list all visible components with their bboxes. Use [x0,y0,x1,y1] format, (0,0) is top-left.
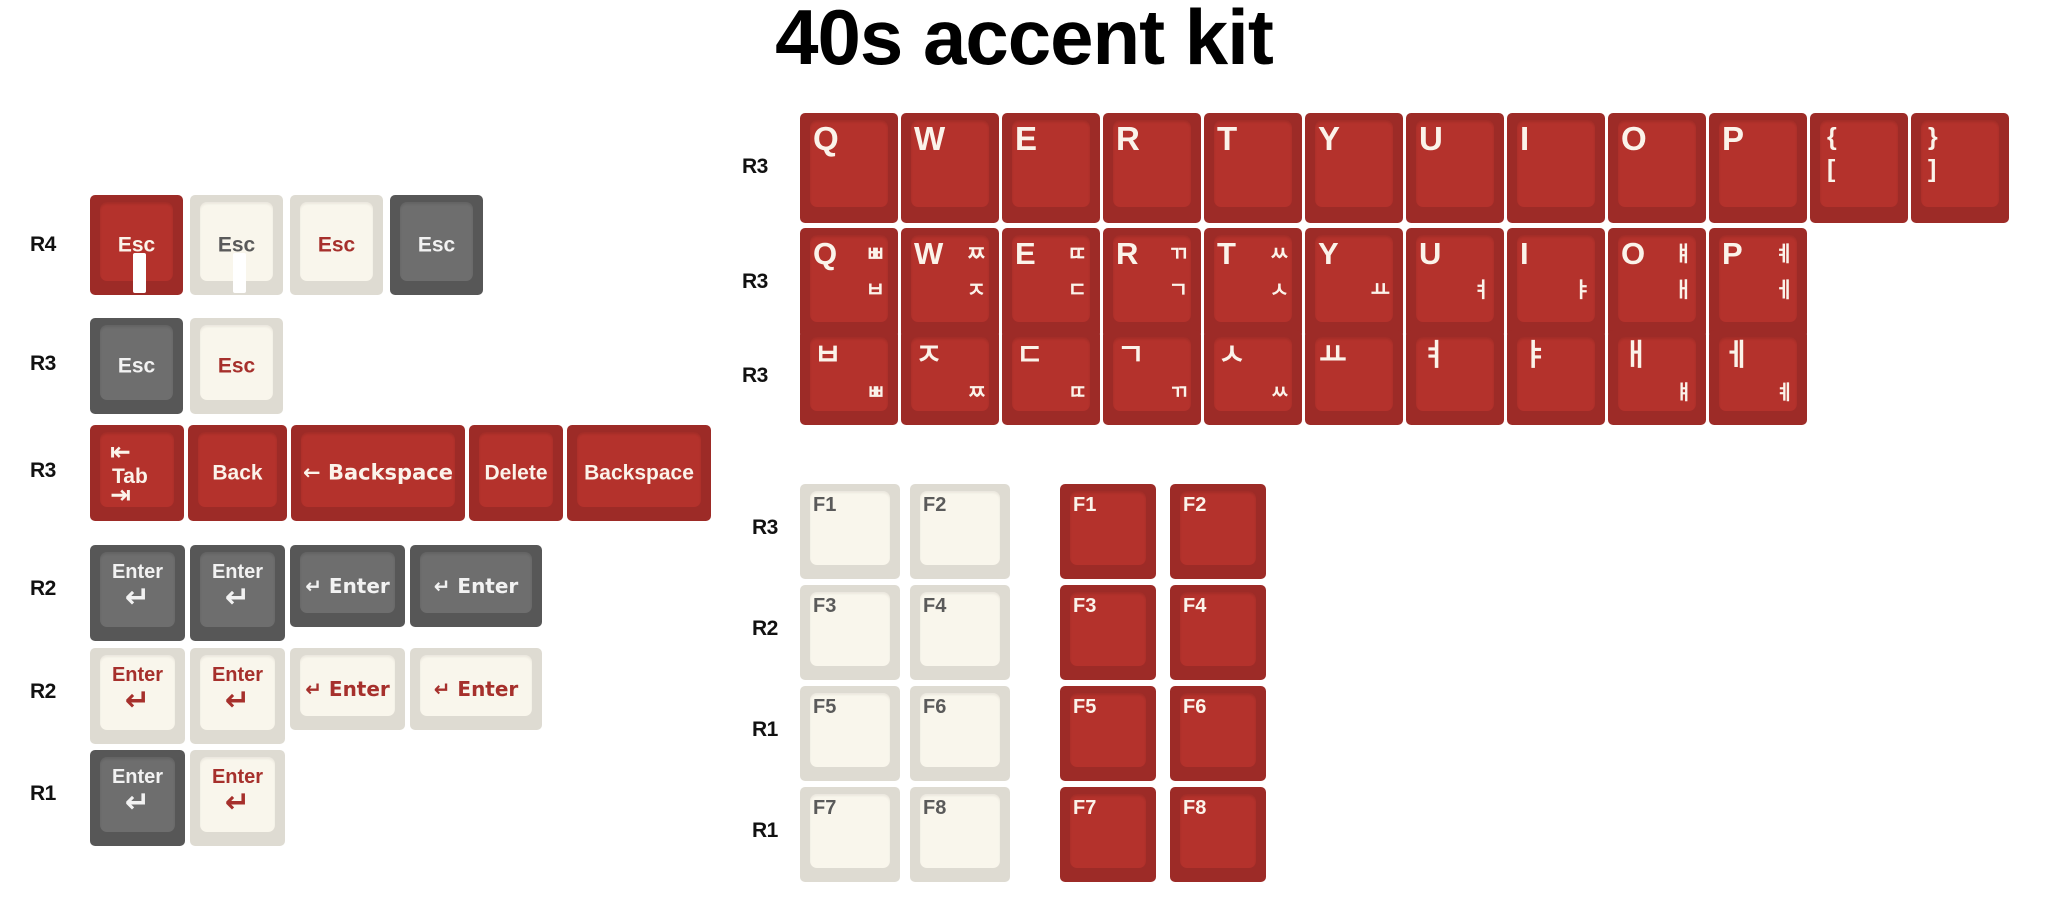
esc-beige-gray[interactable]: Esc [190,195,283,295]
latin-legend: T [1217,122,1237,155]
hangul-base-legend: ㅂ [866,280,885,301]
hangul-base-legend: ㅐ [1622,341,1650,371]
row-label-r3-tab: R3 [30,459,56,483]
esc-label: Esc [90,356,183,377]
fkey-label: F1 [813,495,836,515]
hangul-base-legend: ㅅ [1270,280,1289,301]
latin-legend: T [1217,238,1236,269]
fkey-beige-f6[interactable]: F6 [910,686,1010,781]
enter-label: ↵ Enter [410,576,542,596]
row-label-fkey-0: R3 [752,516,778,540]
fkey-label: F7 [1073,798,1096,818]
enter-arrow-icon: ↵ [190,583,285,613]
enter-beige-w1[interactable]: ↵ Enter [290,648,405,730]
fkey-label: F4 [1183,596,1206,616]
fkey-beige-f3[interactable]: F3 [800,585,900,680]
hangul-base-legend: ㅛ [1371,280,1390,301]
hangul-shifted-legend: ㅒ [1675,383,1693,403]
backspace-label: Backspace [567,463,711,484]
keycap-legend-layer: ㅈㅉ [901,330,999,425]
keycap-legend-layer: F1 [1060,484,1156,579]
keycap-legend-layer: {[ [1810,113,1908,223]
key-hangul-yo[interactable]: ㅛ [1305,330,1403,425]
keycap-legend-layer: O [1608,113,1706,223]
key-hangul-ae[interactable]: ㅐㅒ [1608,330,1706,425]
fkey-beige-f4[interactable]: F4 [910,585,1010,680]
hangul-base-legend: ㅑ [1521,341,1549,371]
keycap-legend-layer: F3 [1060,585,1156,680]
keycap-legend-layer: ㄷㄸ [1002,330,1100,425]
tab[interactable]: ⇤Tab⇥ [90,425,184,521]
keycap-legend-layer: F5 [800,686,900,781]
hangul-base-legend: ㅈ [967,280,986,301]
latin-legend: I [1520,238,1529,269]
enter-arrow-icon: ↵ [90,583,185,613]
key-q[interactable]: Q [800,113,898,223]
row-label-fkey-3: R1 [752,819,778,843]
keycap-legend-layer: ← Backspace [291,425,465,521]
keycap-legend-layer: Esc [190,318,283,414]
esc-label: Esc [390,235,483,256]
fkey-label: F3 [813,596,836,616]
keycap-legend-layer: Enter↵ [190,648,285,744]
keycap-legend-layer: Yㅛ [1305,228,1403,338]
backspace[interactable]: ← Backspace [291,425,465,521]
latin-legend: E [1015,238,1036,269]
keycap-legend-layer: ㅕ [1406,330,1504,425]
latin-legend: R [1116,238,1138,269]
fkey-label: F1 [1073,495,1096,515]
hangul-shifted-legend: ㅃ [867,383,885,403]
keycap-legend-layer: ↵ Enter [290,648,405,730]
fkey-beige-f1[interactable]: F1 [800,484,900,579]
keycap-legend-layer: U [1406,113,1504,223]
keycap-legend-layer: W [901,113,999,223]
fkey-label: F4 [923,596,946,616]
hangul-shifted-legend: ㅖ [1775,244,1794,265]
keycap-legend-layer: Wㅉㅈ [901,228,999,338]
key-hangul-digeut[interactable]: ㄷㄸ [1002,330,1100,425]
keycap-legend-layer: ↵ Enter [290,545,405,627]
key-hangul-jieut[interactable]: ㅈㅉ [901,330,999,425]
key-w[interactable]: W [901,113,999,223]
hangul-shifted-legend: ㅆ [1270,244,1289,265]
key-bracket-left[interactable]: {[ [1810,113,1908,223]
enter-label: ↵ Enter [290,679,405,699]
enter-gray-1[interactable]: Enter↵ [90,545,185,641]
key-o-hangul[interactable]: Oㅒㅐ [1608,228,1706,338]
esc-red[interactable]: Esc [90,195,183,295]
enter-label: Enter [190,665,285,685]
row-label-r3-esc: R3 [30,352,56,376]
keycap-legend-layer: F8 [1170,787,1266,882]
latin-legend: E [1015,122,1037,155]
keycap-legend-layer: F2 [910,484,1010,579]
keycap-legend-layer: Esc [390,195,483,295]
hangul-shifted-legend: ㅉ [967,244,986,265]
hangul-base-legend: ㅔ [1775,280,1794,301]
enter-gray-2[interactable]: Enter↵ [190,545,285,641]
delete-label: Delete [469,463,563,484]
homing-indicator-bar [233,253,246,293]
hangul-shifted-legend: ㄸ [1069,383,1087,403]
enter-label: Enter [90,562,185,582]
keycap-legend-layer: F7 [1060,787,1156,882]
keycap-legend-layer: F1 [800,484,900,579]
key-u-hangul[interactable]: Uㅕ [1406,228,1504,338]
keycap-legend-layer: I [1507,113,1605,223]
key-o[interactable]: O [1608,113,1706,223]
key-e-hangul[interactable]: Eㄸㄷ [1002,228,1100,338]
hangul-base-legend: ㅐ [1674,280,1693,301]
keycap-legend-layer: F3 [800,585,900,680]
latin-legend: O [1621,122,1647,155]
keycap-legend-layer: Oㅒㅐ [1608,228,1706,338]
keycap-legend-layer: Enter↵ [190,750,285,846]
homing-indicator-bar [133,253,146,293]
hangul-base-legend: ㅕ [1472,280,1491,301]
enter-arrow-icon: ↵ [190,788,285,818]
keycap-legend-layer: F8 [910,787,1010,882]
row-label-r2-enter-4: R2 [30,680,56,704]
tab-right-arrow-icon: ⇥ [110,482,131,507]
keycap-legend-layer: ㅅㅆ [1204,330,1302,425]
fkey-label: F2 [1183,495,1206,515]
esc-label: Esc [290,235,383,256]
tab-left-arrow-icon: ⇤ [110,439,131,464]
enter-beige-1[interactable]: Enter↵ [90,648,185,744]
backspace-2u[interactable]: Backspace [567,425,711,521]
keycap-legend-layer: Enter↵ [90,545,185,641]
keycap-legend-layer: Uㅕ [1406,228,1504,338]
key-r-hangul[interactable]: Rㄲㄱ [1103,228,1201,338]
backspace-label: ← Backspace [291,463,465,484]
hangul-base-legend: ㄱ [1117,341,1145,371]
shifted-symbol-legend: { [1827,125,1837,150]
keycap-legend-layer: F4 [1170,585,1266,680]
enter-label: Enter [90,767,185,787]
keycap-legend-layer: Tㅆㅅ [1204,228,1302,338]
key-bracket-right[interactable]: }] [1911,113,2009,223]
esc-gray-r3[interactable]: Esc [90,318,183,414]
hangul-shifted-legend: ㅆ [1271,383,1289,403]
hangul-base-legend: ㅂ [814,341,842,371]
shifted-symbol-legend: } [1928,125,1938,150]
latin-legend: Q [813,122,839,155]
enter-beige-w2[interactable]: ↵ Enter [410,648,542,730]
key-hangul-e[interactable]: ㅔㅖ [1709,330,1807,425]
fkey-label: F6 [1183,697,1206,717]
key-e[interactable]: E [1002,113,1100,223]
key-t-hangul[interactable]: Tㅆㅅ [1204,228,1302,338]
keycap-legend-layer: T [1204,113,1302,223]
keycap-legend-layer: F7 [800,787,900,882]
latin-legend: R [1116,122,1140,155]
enter-arrow-icon: ↵ [90,686,185,716]
keycap-legend-layer: ㅐㅒ [1608,330,1706,425]
latin-legend: O [1621,238,1645,269]
key-y[interactable]: Y [1305,113,1403,223]
fkey-red-f6[interactable]: F6 [1170,686,1266,781]
fkey-beige-f5[interactable]: F5 [800,686,900,781]
esc-beige-red-r3[interactable]: Esc [190,318,283,414]
fkey-red-f3[interactable]: F3 [1060,585,1156,680]
keycap-legend-layer: ↵ Enter [410,648,542,730]
fkey-beige-f8[interactable]: F8 [910,787,1010,882]
hangul-base-legend: ㅅ [1218,341,1246,371]
hangul-base-legend: ㅕ [1420,341,1448,371]
keycap-legend-layer: Enter↵ [190,545,285,641]
hangul-base-legend: ㅔ [1723,341,1751,371]
key-w-hangul[interactable]: Wㅉㅈ [901,228,999,338]
key-hangul-ya[interactable]: ㅑ [1507,330,1605,425]
keycap-legend-layer: F4 [910,585,1010,680]
page-title: 40s accent kit [0,0,2048,83]
enter-label: ↵ Enter [290,576,405,596]
latin-legend: U [1419,122,1443,155]
enter-label: Enter [90,665,185,685]
keycap-legend-layer: F6 [1170,686,1266,781]
keycap-legend-layer: }] [1911,113,2009,223]
fkey-label: F8 [1183,798,1206,818]
hangul-base-legend: ㅈ [915,341,943,371]
enter-arrow-icon: ↵ [90,788,185,818]
enter-gray-w2[interactable]: ↵ Enter [410,545,542,627]
row-label-r1-enter: R1 [30,782,56,806]
hangul-base-legend: ㅛ [1319,341,1347,371]
key-t[interactable]: T [1204,113,1302,223]
fkey-red-f5[interactable]: F5 [1060,686,1156,781]
enter-label: ↵ Enter [410,679,542,699]
row-label-fkey-1: R2 [752,617,778,641]
hangul-base-legend: ㅑ [1573,280,1592,301]
keycap-legend-layer: R [1103,113,1201,223]
latin-legend: U [1419,238,1441,269]
key-p-hangul[interactable]: Pㅖㅔ [1709,228,1807,338]
keycap-kit-page: 40s accent kit EscEscEscEscR4EscEscR3⇤Ta… [0,0,2048,916]
row-label-fkey-2: R1 [752,718,778,742]
enter-arrow-icon: ↵ [190,686,285,716]
back-label: Back [188,463,287,484]
fkey-label: F7 [813,798,836,818]
fkey-label: F8 [923,798,946,818]
fkey-label: F3 [1073,596,1096,616]
esc-beige-red[interactable]: Esc [290,195,383,295]
fkey-label: F6 [923,697,946,717]
key-p[interactable]: P [1709,113,1807,223]
keycap-legend-layer: Rㄲㄱ [1103,228,1201,338]
keycap-legend-layer: ㅛ [1305,330,1403,425]
hangul-shifted-legend: ㄲ [1170,383,1188,403]
keycap-legend-layer: ⇤Tab⇥ [90,425,184,521]
hangul-base-legend: ㄷ [1068,280,1087,301]
fkey-red-f1[interactable]: F1 [1060,484,1156,579]
hangul-shifted-legend: ㅖ [1776,383,1794,403]
row-label-hangul-r3-b: R3 [742,270,768,294]
key-hangul-yeo[interactable]: ㅕ [1406,330,1504,425]
hangul-shifted-legend: ㄲ [1169,244,1188,265]
fkey-label: F2 [923,495,946,515]
keycap-legend-layer: Y [1305,113,1403,223]
keycap-legend-layer: F5 [1060,686,1156,781]
esc-gray[interactable]: Esc [390,195,483,295]
keycap-legend-layer: Enter↵ [90,648,185,744]
enter-gray-w1[interactable]: ↵ Enter [290,545,405,627]
latin-legend: W [914,122,945,155]
hangul-shifted-legend: ㅒ [1674,244,1693,265]
hangul-shifted-legend: ㄸ [1068,244,1087,265]
back[interactable]: Back [188,425,287,521]
fkey-red-f7[interactable]: F7 [1060,787,1156,882]
key-hangul-bieup[interactable]: ㅂㅃ [800,330,898,425]
key-u[interactable]: U [1406,113,1504,223]
keycap-legend-layer: Esc [290,195,383,295]
fkey-red-f2[interactable]: F2 [1170,484,1266,579]
keycap-legend-layer: F6 [910,686,1010,781]
fkey-beige-f7[interactable]: F7 [800,787,900,882]
key-i[interactable]: I [1507,113,1605,223]
enter-beige-r1[interactable]: Enter↵ [190,750,285,846]
fkey-beige-f2[interactable]: F2 [910,484,1010,579]
keycap-legend-layer: E [1002,113,1100,223]
keycap-legend-layer: Pㅖㅔ [1709,228,1807,338]
delete[interactable]: Delete [469,425,563,521]
keycap-legend-layer: Backspace [567,425,711,521]
keycap-legend-layer: Iㅑ [1507,228,1605,338]
latin-legend: Y [1318,238,1339,269]
enter-label: Enter [190,767,285,787]
keycap-legend-layer: Back [188,425,287,521]
row-label-hangul-r3-c: R3 [742,364,768,388]
hangul-base-legend: ㄷ [1016,341,1044,371]
row-label-r2-enter-3: R2 [30,577,56,601]
keycap-legend-layer: Eㄸㄷ [1002,228,1100,338]
key-hangul-siot[interactable]: ㅅㅆ [1204,330,1302,425]
keycap-legend-layer: ㅂㅃ [800,330,898,425]
row-label-r4: R4 [30,233,56,257]
base-symbol-legend: [ [1827,157,1835,182]
latin-legend: P [1722,122,1744,155]
row-label-hangul-r3-a: R3 [742,155,768,179]
key-i-hangul[interactable]: Iㅑ [1507,228,1605,338]
keycap-legend-layer: ㅔㅖ [1709,330,1807,425]
keycap-legend-layer: ㅑ [1507,330,1605,425]
keycap-legend-layer: Esc [90,318,183,414]
base-symbol-legend: ] [1928,157,1936,182]
keycap-legend-layer: Qㅃㅂ [800,228,898,338]
fkey-red-f8[interactable]: F8 [1170,787,1266,882]
keycap-legend-layer: Delete [469,425,563,521]
latin-legend: W [914,238,943,269]
hangul-shifted-legend: ㅉ [968,383,986,403]
latin-legend: Y [1318,122,1340,155]
enter-gray-r1[interactable]: Enter↵ [90,750,185,846]
keycap-legend-layer: Q [800,113,898,223]
latin-legend: Q [813,238,837,269]
key-q-hangul[interactable]: Qㅃㅂ [800,228,898,338]
enter-beige-2[interactable]: Enter↵ [190,648,285,744]
keycap-legend-layer: F2 [1170,484,1266,579]
esc-label: Esc [190,356,283,377]
fkey-label: F5 [1073,697,1096,717]
hangul-shifted-legend: ㅃ [866,244,885,265]
keycap-legend-layer: P [1709,113,1807,223]
keycap-legend-layer: ㄱㄲ [1103,330,1201,425]
key-y-hangul[interactable]: Yㅛ [1305,228,1403,338]
latin-legend: I [1520,122,1529,155]
fkey-red-f4[interactable]: F4 [1170,585,1266,680]
latin-legend: P [1722,238,1743,269]
keycap-legend-layer: ↵ Enter [410,545,542,627]
key-r[interactable]: R [1103,113,1201,223]
keycap-legend-layer: Enter↵ [90,750,185,846]
hangul-base-legend: ㄱ [1169,280,1188,301]
fkey-label: F5 [813,697,836,717]
key-hangul-giyeok[interactable]: ㄱㄲ [1103,330,1201,425]
enter-label: Enter [190,562,285,582]
